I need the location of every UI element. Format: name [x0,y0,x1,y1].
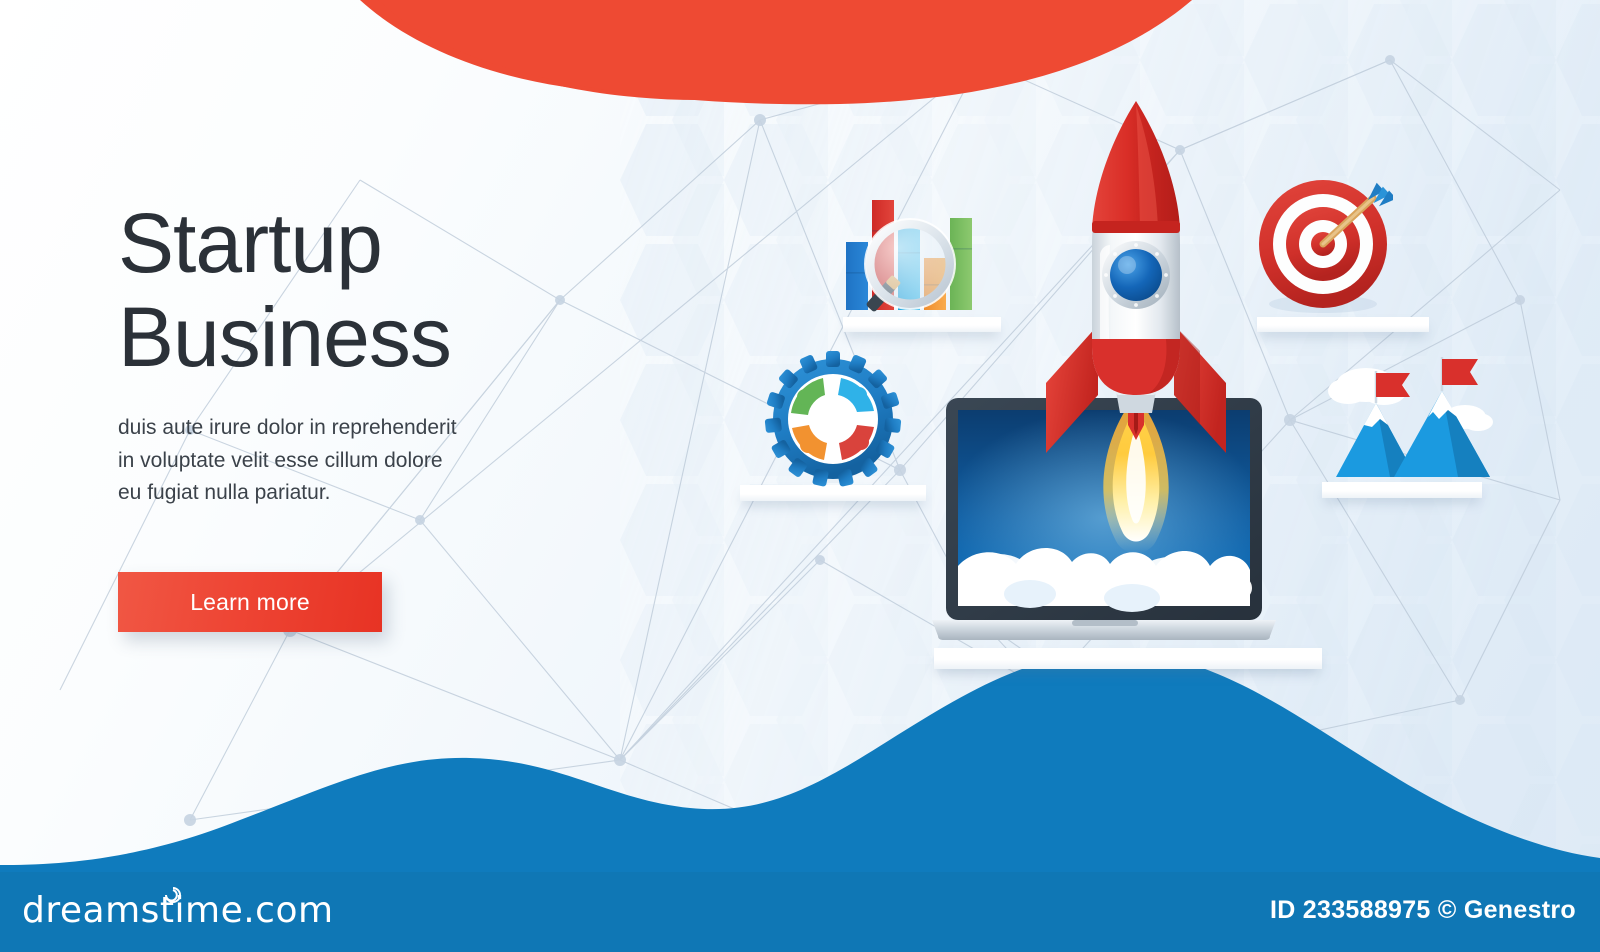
shelf-laptop [934,648,1322,669]
body-line-3: eu fugiat nulla pariatur. [118,477,548,510]
mountain-flags-icon [1318,355,1494,487]
target-arrow-icon [1253,176,1393,321]
bar-chart-magnifier-icon [838,180,1008,322]
image-id-label: ID 233588975 © Genestro [1270,896,1576,925]
headline-line-1: Startup [118,196,738,290]
headline-line-2: Business [118,290,738,384]
red-decorative-blob [0,0,1600,200]
blue-decorative-wave [0,660,1600,875]
spiral-icon [162,884,184,906]
gear-teamwork-icon [752,345,914,495]
body-line-1: duis aute irure dolor in reprehenderit [118,412,548,445]
footer-bar: dreamstime.com ID 233588975 © Genestro [0,872,1600,952]
page-title: Startup Business [118,196,738,384]
learn-more-button[interactable]: Learn more [118,572,382,632]
rocket [1028,95,1244,565]
body-line-2: in voluptate velit esse cillum dolore [118,445,548,478]
banner-canvas: Startup Business duis aute irure dolor i… [0,0,1600,952]
body-copy: duis aute irure dolor in reprehenderit i… [118,412,548,510]
